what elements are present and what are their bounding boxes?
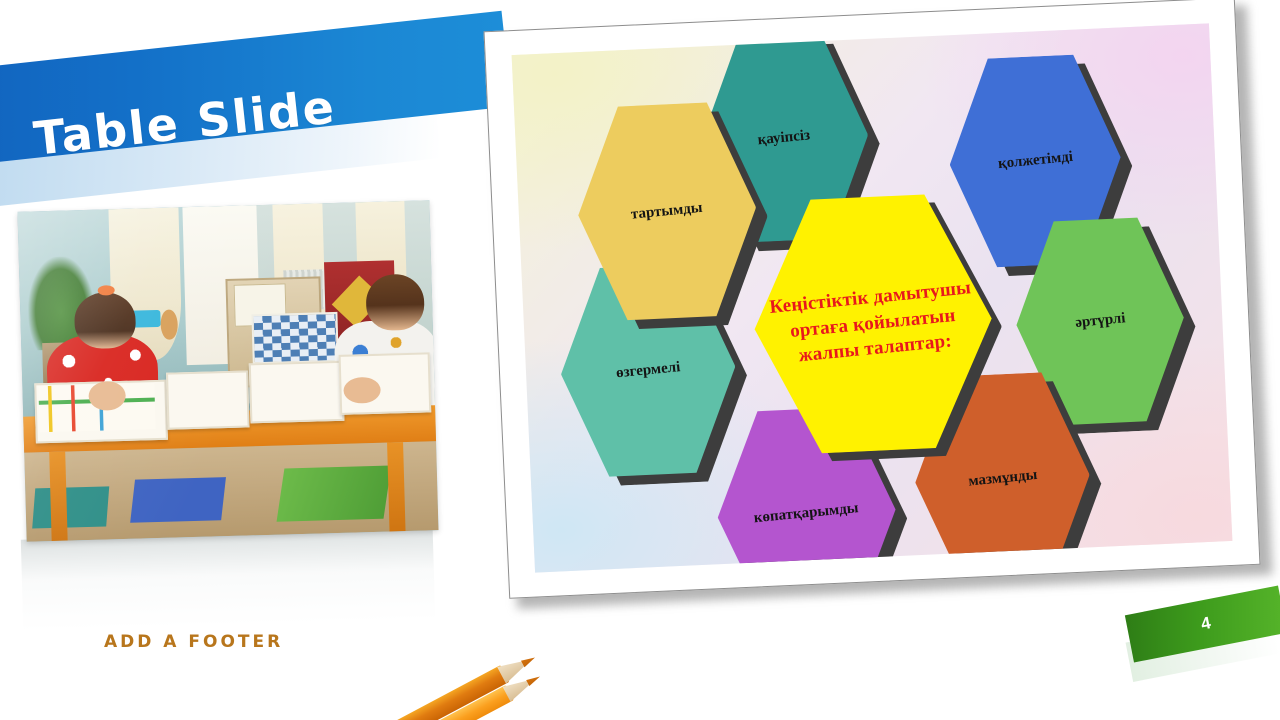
classroom-photo <box>17 200 438 541</box>
page-number-value: 4 <box>1199 613 1212 634</box>
photo-activity-box-2 <box>166 370 250 429</box>
hexagon-node-label: қолжетімді <box>991 148 1079 174</box>
photo-reflection <box>21 528 435 631</box>
photo-activity-box-3 <box>248 361 344 424</box>
hexagon-node-label: тартымды <box>625 199 710 224</box>
photo-content <box>17 200 438 541</box>
photo-mat-blue <box>130 477 225 523</box>
photo-table-leg-left <box>49 451 68 541</box>
hexagon-node-label: қауіпсіз <box>751 127 817 150</box>
photo-child-left-hairtie <box>98 285 115 295</box>
footer-text: ADD A FOOTER <box>104 632 283 652</box>
hexagon-diagram: қауіпсізқолжетімдіәртүрлімазмұндыкөпатқа… <box>512 23 1233 572</box>
hexagon-node-label: мазмұнды <box>961 466 1043 491</box>
photo-child-right-head <box>365 273 424 331</box>
photo-table-leg-right <box>387 442 406 532</box>
hexagon-node-label: әртүрлі <box>1068 310 1132 333</box>
slide-canvas: Table Slide <box>0 0 1280 720</box>
photo-curtain-knot <box>160 310 177 340</box>
photo-mat-teal <box>32 487 109 529</box>
photo-checkerboard <box>251 312 339 365</box>
hexagon-diagram-frame: қауіпсізқолжетімдіәртүрлімазмұндыкөпатқа… <box>484 0 1261 599</box>
photo-mat-green <box>277 465 392 521</box>
hexagon-center-label: Кеңістіктік дамытушы ортаға қойылатын жа… <box>751 274 995 374</box>
hexagon-node-label: өзгермелі <box>609 358 687 383</box>
hexagon-node-label: көпатқарымды <box>748 499 866 528</box>
pencil-icon-dark <box>283 649 539 720</box>
